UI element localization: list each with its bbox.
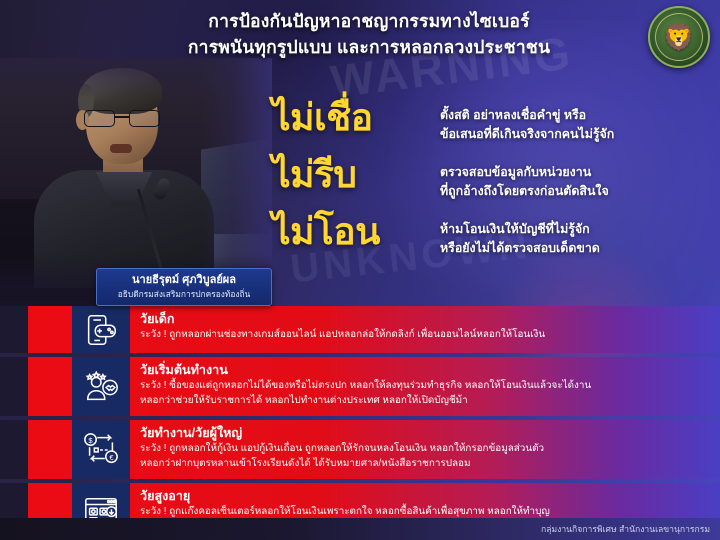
row-left-shade <box>0 306 28 353</box>
person-stars-handshake-icon <box>72 357 130 416</box>
title-line-2: การพนันทุกรูปแบบ และการหลอกลวงประชาชน <box>104 34 634 60</box>
slogan-desc-3-line-2: หรือยังไม่ได้ตรวจสอบเด็ดขาด <box>440 239 720 258</box>
slogan-desc-1-line-2: ข้อเสนอที่ดีเกินจริงจากคนไม่รู้จัก <box>440 125 720 144</box>
footer-text: กลุ่มงานกิจการพิเศษ สำนักงานเลขานุการกรม <box>541 522 710 536</box>
speaker-name: นายธีรุตม์ ศุภวิบูลย์ผล <box>105 273 263 287</box>
row-text: ระวัง ! ซื้อของแต่ถูกหลอกไม่ได้ของหรือไม… <box>140 379 712 408</box>
age-group-rows: วัยเด็ก ระวัง ! ถูกหลอกผ่านช่องทางเกมส์อ… <box>0 306 720 540</box>
phone-game-controller-glyph <box>82 311 120 349</box>
row-title: วัยสูงอายุ <box>140 488 712 504</box>
slogan-desc-3: ห้ามโอนเงินให้บัญชีที่ไม่รู้จัก หรือยังไ… <box>440 210 720 257</box>
row-left-shade <box>0 420 28 479</box>
glasses-icon <box>84 110 160 127</box>
lion-glyph: 🦁 <box>663 24 695 50</box>
slogan-desc-2-line-1: ตรวจสอบข้อมูลกับหน่วยงาน <box>440 163 720 182</box>
slogan-keyword-3: ไม่โอน <box>272 210 440 254</box>
age-row-child: วัยเด็ก ระวัง ! ถูกหลอกผ่านช่องทางเกมส์อ… <box>0 306 720 353</box>
row-title: วัยเด็ก <box>140 311 712 327</box>
row-text: ระวัง ! ถูกหลอกผ่านช่องทางเกมส์ออนไลน์ แ… <box>140 328 712 343</box>
emblem-ring: 🦁 <box>655 13 703 61</box>
slogan-desc-1: ตั้งสติ อย่าหลงเชื่อคำขู่ หรือ ข้อเสนอที… <box>440 96 720 143</box>
svg-text:$: $ <box>88 435 93 444</box>
slogan-row-2: ไม่รีบ ตรวจสอบข้อมูลกับหน่วยงาน ที่ถูกอ้… <box>272 153 720 200</box>
speaker-title: อธิบดีกรมส่งเสริมการปกครองท้องถิ่น <box>105 288 263 300</box>
slogan-keyword-1: ไม่เชื่อ <box>272 96 440 140</box>
slogan-row-3: ไม่โอน ห้ามโอนเงินให้บัญชีที่ไม่รู้จัก ห… <box>272 210 720 257</box>
row-left-shade <box>0 357 28 416</box>
money-transfer-glyph: $ € <box>82 431 120 469</box>
money-transfer-dollar-euro-icon: $ € <box>72 420 130 479</box>
slogan-keyword-2: ไม่รีบ <box>272 153 440 197</box>
row-text-line-2: หลอกว่าช่วยให้รับราชการได้ หลอกไปทำงานต่… <box>140 394 712 409</box>
phone-game-controller-icon <box>72 306 130 353</box>
svg-text:€: € <box>109 452 114 461</box>
row-text-line-1: ระวัง ! ถูกหลอกให้กู้เงิน แอปกู้เงินเถื่… <box>140 442 712 457</box>
dla-emblem-icon: 🦁 <box>648 6 710 68</box>
slogan-desc-2: ตรวจสอบข้อมูลกับหน่วยงาน ที่ถูกอ้างถึงโด… <box>440 153 720 200</box>
row-title: วัยทำงาน/วัยผู้ใหญ่ <box>140 425 712 441</box>
row-text-line-1: ระวัง ! ถูกหลอกผ่านช่องทางเกมส์ออนไลน์ แ… <box>140 328 712 343</box>
speaker-nameplate: นายธีรุตม์ ศุภวิบูลย์ผล อธิบดีกรมส่งเสริ… <box>96 268 272 306</box>
row-text-line-2: หลอกว่าฝากบุตรหลานเข้าโรงเรียนดังได้ ได้… <box>140 457 712 472</box>
age-row-working-adult: $ € วัยทำงาน/วัยผู้ใหญ่ ระวัง ! ถูกหลอกใ… <box>0 420 720 479</box>
row-text-line-1: ระวัง ! ซื้อของแต่ถูกหลอกไม่ได้ของหรือไม… <box>140 379 712 394</box>
row-content: วัยเด็ก ระวัง ! ถูกหลอกผ่านช่องทางเกมส์อ… <box>130 306 720 353</box>
age-row-early-career: วัยเริ่มต้นทำงาน ระวัง ! ซื้อของแต่ถูกหล… <box>0 357 720 416</box>
title-line-1: การป้องกันปัญหาอาชญากรรมทางไซเบอร์ <box>104 8 634 34</box>
slogan-desc-1-line-1: ตั้งสติ อย่าหลงเชื่อคำขู่ หรือ <box>440 106 720 125</box>
slogan-desc-2-line-2: ที่ถูกอ้างถึงโดยตรงก่อนตัดสินใจ <box>440 182 720 201</box>
row-text: ระวัง ! ถูกหลอกให้กู้เงิน แอปกู้เงินเถื่… <box>140 442 712 471</box>
photo-person-mouth <box>110 144 132 153</box>
slogan-block: ไม่เชื่อ ตั้งสติ อย่าหลงเชื่อคำขู่ หรือ … <box>272 96 720 257</box>
footer-bar: กลุ่มงานกิจการพิเศษ สำนักงานเลขานุการกรม <box>0 518 720 540</box>
page-title: การป้องกันปัญหาอาชญากรรมทางไซเบอร์ การพน… <box>104 8 634 60</box>
row-content: วัยเริ่มต้นทำงาน ระวัง ! ซื้อของแต่ถูกหล… <box>130 357 720 416</box>
row-title: วัยเริ่มต้นทำงาน <box>140 362 712 378</box>
person-stars-handshake-glyph <box>82 368 120 406</box>
slogan-row-1: ไม่เชื่อ ตั้งสติ อย่าหลงเชื่อคำขู่ หรือ … <box>272 96 720 143</box>
row-content: วัยทำงาน/วัยผู้ใหญ่ ระวัง ! ถูกหลอกให้กู… <box>130 420 720 479</box>
slogan-desc-3-line-1: ห้ามโอนเงินให้บัญชีที่ไม่รู้จัก <box>440 220 720 239</box>
infographic-poster: WARNING UNKNOWN <box>0 0 720 540</box>
